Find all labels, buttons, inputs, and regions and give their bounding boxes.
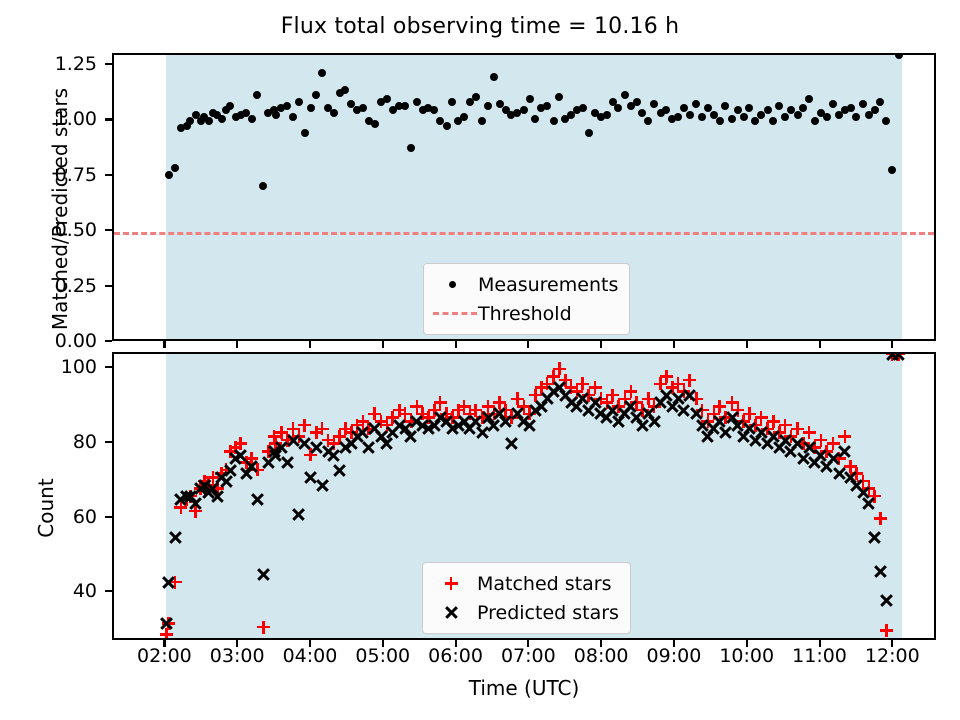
y-axis-tick: [105, 516, 112, 518]
data-point: [407, 144, 415, 152]
data-point: [253, 91, 261, 99]
threshold-line: [114, 232, 934, 235]
legend-label-predicted-stars: Predicted stars: [477, 602, 619, 624]
x-axis-tick: [600, 341, 602, 348]
x-axis-tick: [163, 341, 165, 348]
data-point: [847, 104, 855, 112]
data-point: [218, 115, 226, 123]
data-point: [769, 117, 777, 125]
data-point: [662, 106, 670, 114]
x-axis-tick: [673, 341, 675, 348]
legend-label-matched-stars: Matched stars: [477, 573, 611, 595]
data-point: [721, 102, 729, 110]
legend-item-measurements: Measurements: [432, 270, 618, 299]
data-point: [478, 117, 486, 125]
data-point: [341, 86, 349, 94]
legend-item-predicted-stars: Predicted stars: [431, 598, 619, 627]
data-point: [882, 117, 890, 125]
x-axis-tick: [819, 341, 821, 348]
data-point: [811, 117, 819, 125]
x-axis-tick: [382, 341, 384, 348]
data-point: [259, 182, 267, 190]
data-point: [716, 117, 724, 125]
data-point: [781, 113, 789, 121]
data-point: [443, 122, 451, 130]
data-point: [430, 106, 438, 114]
data-point: [876, 98, 884, 106]
data-point: [621, 91, 629, 99]
data-point: [805, 95, 813, 103]
data-point: [745, 104, 753, 112]
data-point: [852, 113, 860, 121]
figure-canvas: Flux total observing time = 10.16 h Meas…: [0, 0, 960, 720]
y-axis-tick: [105, 340, 112, 342]
data-point: [692, 100, 700, 108]
data-point: [829, 100, 837, 108]
data-point: [186, 117, 194, 125]
data-point: [307, 104, 315, 112]
x-axis-tick: [309, 341, 311, 348]
ratio-panel-axes: Measurements Threshold: [112, 53, 936, 341]
data-point: [674, 113, 682, 121]
y-axis-tick: [105, 118, 112, 120]
data-point: [171, 164, 179, 172]
data-point: [531, 115, 539, 123]
data-point: [283, 102, 291, 110]
measurements-marker-icon: [432, 274, 478, 296]
data-point: [526, 95, 534, 103]
data-point: [740, 113, 748, 121]
y-axis-tick: [105, 63, 112, 65]
data-point: [383, 95, 391, 103]
data-point: [775, 102, 783, 110]
legend-label-measurements: Measurements: [478, 274, 618, 296]
ratio-panel-y-axis-label: Matched/Predicted stars: [48, 65, 72, 353]
ratio-panel-legend: Measurements Threshold: [423, 263, 630, 335]
y-axis-tick: [105, 441, 112, 443]
legend-item-matched-stars: Matched stars: [431, 569, 619, 598]
data-point: [330, 109, 338, 117]
data-point: [272, 111, 280, 119]
data-point: [205, 117, 213, 125]
data-point: [448, 98, 456, 106]
data-point: [371, 120, 379, 128]
data-point: [312, 91, 320, 99]
data-point: [550, 117, 558, 125]
data-point: [490, 73, 498, 81]
data-point: [543, 102, 551, 110]
x-axis-tick: [527, 341, 529, 348]
data-point: [603, 111, 611, 119]
data-point: [226, 102, 234, 110]
data-point: [644, 117, 652, 125]
data-point: [698, 113, 706, 121]
legend-label-threshold: Threshold: [478, 303, 572, 325]
data-point: [823, 113, 831, 121]
y-axis-tick: [105, 285, 112, 287]
data-point: [484, 102, 492, 110]
data-point: [472, 93, 480, 101]
data-point: [248, 115, 256, 123]
data-point: [794, 111, 802, 119]
matched-stars-marker-icon: [431, 573, 477, 595]
y-axis-tick: [105, 174, 112, 176]
data-point: [895, 53, 903, 59]
count-panel-y-axis-label: Count: [34, 364, 58, 652]
data-point: [165, 171, 173, 179]
data-point: [579, 104, 587, 112]
data-point: [460, 113, 468, 121]
data-point: [295, 98, 303, 106]
x-axis-tick: [891, 341, 893, 348]
x-axis-label: Time (UTC): [112, 676, 936, 700]
x-axis-tick-label: 12:00: [847, 645, 937, 667]
data-point: [585, 129, 593, 137]
data-point: [413, 98, 421, 106]
x-axis-tick: [746, 341, 748, 348]
data-point: [359, 104, 367, 112]
count-panel-legend: Matched stars Predicted stars: [422, 562, 631, 634]
x-axis-tick: [236, 341, 238, 348]
data-point: [289, 113, 297, 121]
data-point: [764, 106, 772, 114]
data-point: [859, 100, 867, 108]
data-point: [401, 102, 409, 110]
threshold-line-icon: [432, 303, 478, 325]
data-point: [799, 104, 807, 112]
data-point: [751, 117, 759, 125]
data-point: [638, 109, 646, 117]
data-point: [686, 111, 694, 119]
data-point: [633, 98, 641, 106]
y-axis-tick: [105, 366, 112, 368]
data-point: [520, 106, 528, 114]
page-title: Flux total observing time = 10.16 h: [0, 14, 960, 39]
x-axis-tick: [455, 341, 457, 348]
count-panel-axes: Matched stars Predicted stars: [112, 352, 936, 640]
data-point: [728, 115, 736, 123]
data-point: [301, 129, 309, 137]
data-point: [318, 69, 326, 77]
y-axis-tick: [105, 229, 112, 231]
legend-item-threshold: Threshold: [432, 299, 618, 328]
data-point: [614, 104, 622, 112]
y-axis-tick: [105, 590, 112, 592]
data-point: [871, 106, 879, 114]
data-point: [888, 166, 896, 174]
predicted-stars-marker-icon: [431, 602, 477, 624]
data-point: [650, 100, 658, 108]
data-point: [555, 93, 563, 101]
